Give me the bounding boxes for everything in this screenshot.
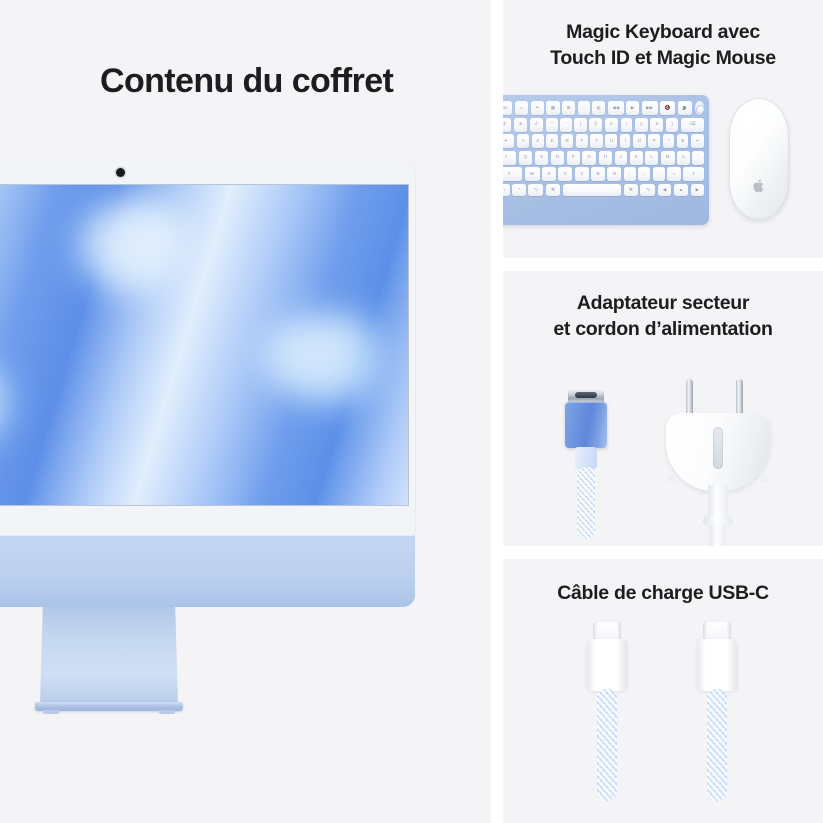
key-ampersand: & [514, 118, 528, 132]
panel-keyboard-title: Magic Keyboard avec Touch ID et Magic Mo… [517, 20, 809, 71]
key-f8: ▶ [626, 101, 639, 115]
imac-stand-foot [35, 702, 183, 711]
imac-display-body [0, 160, 415, 535]
key-delete: ⌫ [681, 118, 704, 132]
key-section: § [589, 118, 602, 132]
apple-logo-icon [753, 178, 766, 193]
connector-collar [575, 447, 597, 469]
braided-power-cord [577, 467, 595, 539]
key-semicolon: ; [638, 167, 650, 181]
keyboard-row-numbers: @ & é " ' ( § è ! ç à ) ⌫ [503, 118, 704, 132]
key-v: V [575, 167, 589, 181]
key-i: I [620, 134, 630, 148]
plug-center-slot [713, 427, 723, 469]
key-apostrophe: ' [560, 118, 571, 132]
key-s: S [535, 151, 548, 165]
key-fn: fn [503, 184, 510, 196]
key-f4: ⊞ [562, 101, 575, 115]
touch-id-icon[interactable] [695, 101, 704, 115]
key-command-left: ⌘ [546, 184, 560, 196]
panel-keyboard-mouse: Magic Keyboard avec Touch ID et Magic Mo… [503, 0, 823, 258]
camera-icon [116, 168, 125, 177]
key-e: E [546, 134, 558, 148]
power-adapter-plug-image [658, 379, 778, 546]
key-g: G [582, 151, 596, 165]
whats-in-the-box-image: Contenu du coffret Magic Keyb [0, 0, 823, 823]
key-w: W [525, 167, 540, 181]
usbc-body-right [697, 639, 737, 691]
key-f10: 🔇 [660, 101, 675, 115]
panel-imac: Contenu du coffret [0, 0, 491, 823]
keyboard-row-azerty: ⇥ A Z E R T Y U I O P ^ $ ↵ [503, 134, 704, 148]
imac-top-bezel [0, 160, 415, 184]
key-n: N [607, 167, 621, 181]
connector-blue-body [565, 402, 607, 448]
key-t: T [576, 134, 588, 148]
key-arrow-right: ▶ [691, 184, 704, 196]
key-q: Q [519, 151, 533, 165]
key-f11: 🔉 [678, 101, 693, 115]
keyboard-row-modifiers: fn ⌃ ⌥ ⌘ ⌘ ⌥ ◀ ▲ ▶ [503, 184, 704, 196]
usbc-braided-cord-left [597, 689, 617, 801]
panel-keyboard-title-line1: Magic Keyboard avec [566, 21, 760, 43]
panel-keyboard-title-line2: Touch ID et Magic Mouse [550, 47, 776, 69]
keyboard-row-bottom-letters: ⇧ W X C V B N , ; : = ⇧ [503, 167, 704, 181]
key-arrow-left: ◀ [658, 184, 671, 196]
key-colon: : [653, 167, 665, 181]
key-tab: ⇥ [503, 134, 514, 148]
plug-earth-clip-right [761, 475, 768, 482]
key-egrave: è [605, 118, 618, 132]
usbc-tip-right [703, 621, 731, 641]
imac-screen [0, 184, 409, 506]
key-j: J [615, 151, 627, 165]
key-o: O [633, 134, 646, 148]
key-f6: ◍ [592, 101, 605, 115]
power-cord-connector-image [551, 389, 621, 539]
plug-neck [708, 485, 728, 519]
key-z: Z [532, 134, 544, 148]
key-m: M [661, 151, 675, 165]
key-y: Y [590, 134, 602, 148]
key-f7: ◀◀ [608, 101, 624, 115]
key-esc: esc [503, 101, 512, 115]
key-control: ⌃ [512, 184, 526, 196]
wallpaper-sheen [0, 185, 408, 505]
plug-cord [710, 524, 727, 546]
key-equals: = [667, 167, 680, 181]
page-title: Contenu du coffret [100, 62, 393, 101]
key-ugrave: ù [677, 151, 690, 165]
key-arrow-updown: ▲ [674, 184, 688, 196]
key-shift-right: ⇧ [683, 167, 704, 181]
magic-mouse-image [729, 98, 789, 220]
usbc-connector-right [693, 621, 741, 801]
key-dollar: $ [677, 134, 689, 148]
key-h: H [599, 151, 612, 165]
usbc-braided-cord-right [707, 689, 727, 801]
key-ccedilla: ç [635, 118, 648, 132]
key-d: D [551, 151, 564, 165]
key-shift-left: ⇧ [503, 167, 522, 181]
key-return: ↵ [691, 134, 704, 148]
panel-power-adapter: Adaptateur secteur et cordon d’alimentat… [503, 271, 823, 546]
usbc-connector-left [583, 621, 631, 801]
key-f5: ◌ [578, 101, 590, 115]
key-r: R [561, 134, 573, 148]
panel-adapter-title-line1: Adaptateur secteur [577, 292, 749, 314]
key-paren-close: ) [666, 118, 678, 132]
key-space [563, 184, 621, 196]
panel-adapter-title-line2: et cordon d’alimentation [553, 318, 772, 340]
connector-metal-tip [568, 389, 604, 403]
key-k: K [630, 151, 643, 165]
panel-cable-title: Câble de charge USB-C [517, 581, 809, 607]
panel-usbc-cable: Câble de charge USB-C [503, 559, 823, 823]
key-u: U [605, 134, 617, 148]
key-option-left: ⌥ [528, 184, 543, 196]
plug-earth-clip-left [668, 475, 675, 482]
keyboard-row-home: ⇪ Q S D F G H J K L M ù ` [503, 151, 704, 165]
key-capslock: ⇪ [503, 151, 516, 165]
usbc-body-left [587, 639, 627, 691]
key-exclaim: ! [621, 118, 633, 132]
key-eacute: é [530, 118, 543, 132]
key-f2: ☀ [531, 101, 544, 115]
mouse-highlight [738, 106, 768, 178]
imac-stand-neck [40, 607, 178, 704]
key-f: F [567, 151, 580, 165]
panel-adapter-title: Adaptateur secteur et cordon d’alimentat… [517, 291, 809, 342]
key-grave: ` [692, 151, 704, 165]
key-c: C [558, 167, 572, 181]
magic-keyboard-image: esc ☼ ☀ ▦ ⊞ ◌ ◍ ◀◀ ▶ ▶▶ 🔇 🔉 @ & é " ' ( [503, 95, 709, 225]
key-at: @ [503, 118, 511, 132]
key-agrave: à [650, 118, 663, 132]
key-l: L [645, 151, 658, 165]
key-p: P [648, 134, 660, 148]
key-f9: ▶▶ [642, 101, 658, 115]
key-command-right: ⌘ [624, 184, 638, 196]
key-paren-open: ( [574, 118, 586, 132]
usbc-tip-left [593, 621, 621, 641]
key-comma: , [624, 167, 636, 181]
key-option-right: ⌥ [640, 184, 655, 196]
key-x: X [542, 167, 556, 181]
key-quote: " [546, 118, 558, 132]
key-circumflex: ^ [663, 134, 674, 148]
keyboard-row-function: esc ☼ ☀ ▦ ⊞ ◌ ◍ ◀◀ ▶ ▶▶ 🔇 🔉 [503, 101, 704, 115]
key-b: B [591, 167, 605, 181]
key-f1: ☼ [515, 101, 528, 115]
imac-product-image [0, 160, 430, 660]
imac-chin [0, 535, 415, 607]
key-a: A [517, 134, 529, 148]
key-f3: ▦ [546, 101, 559, 115]
